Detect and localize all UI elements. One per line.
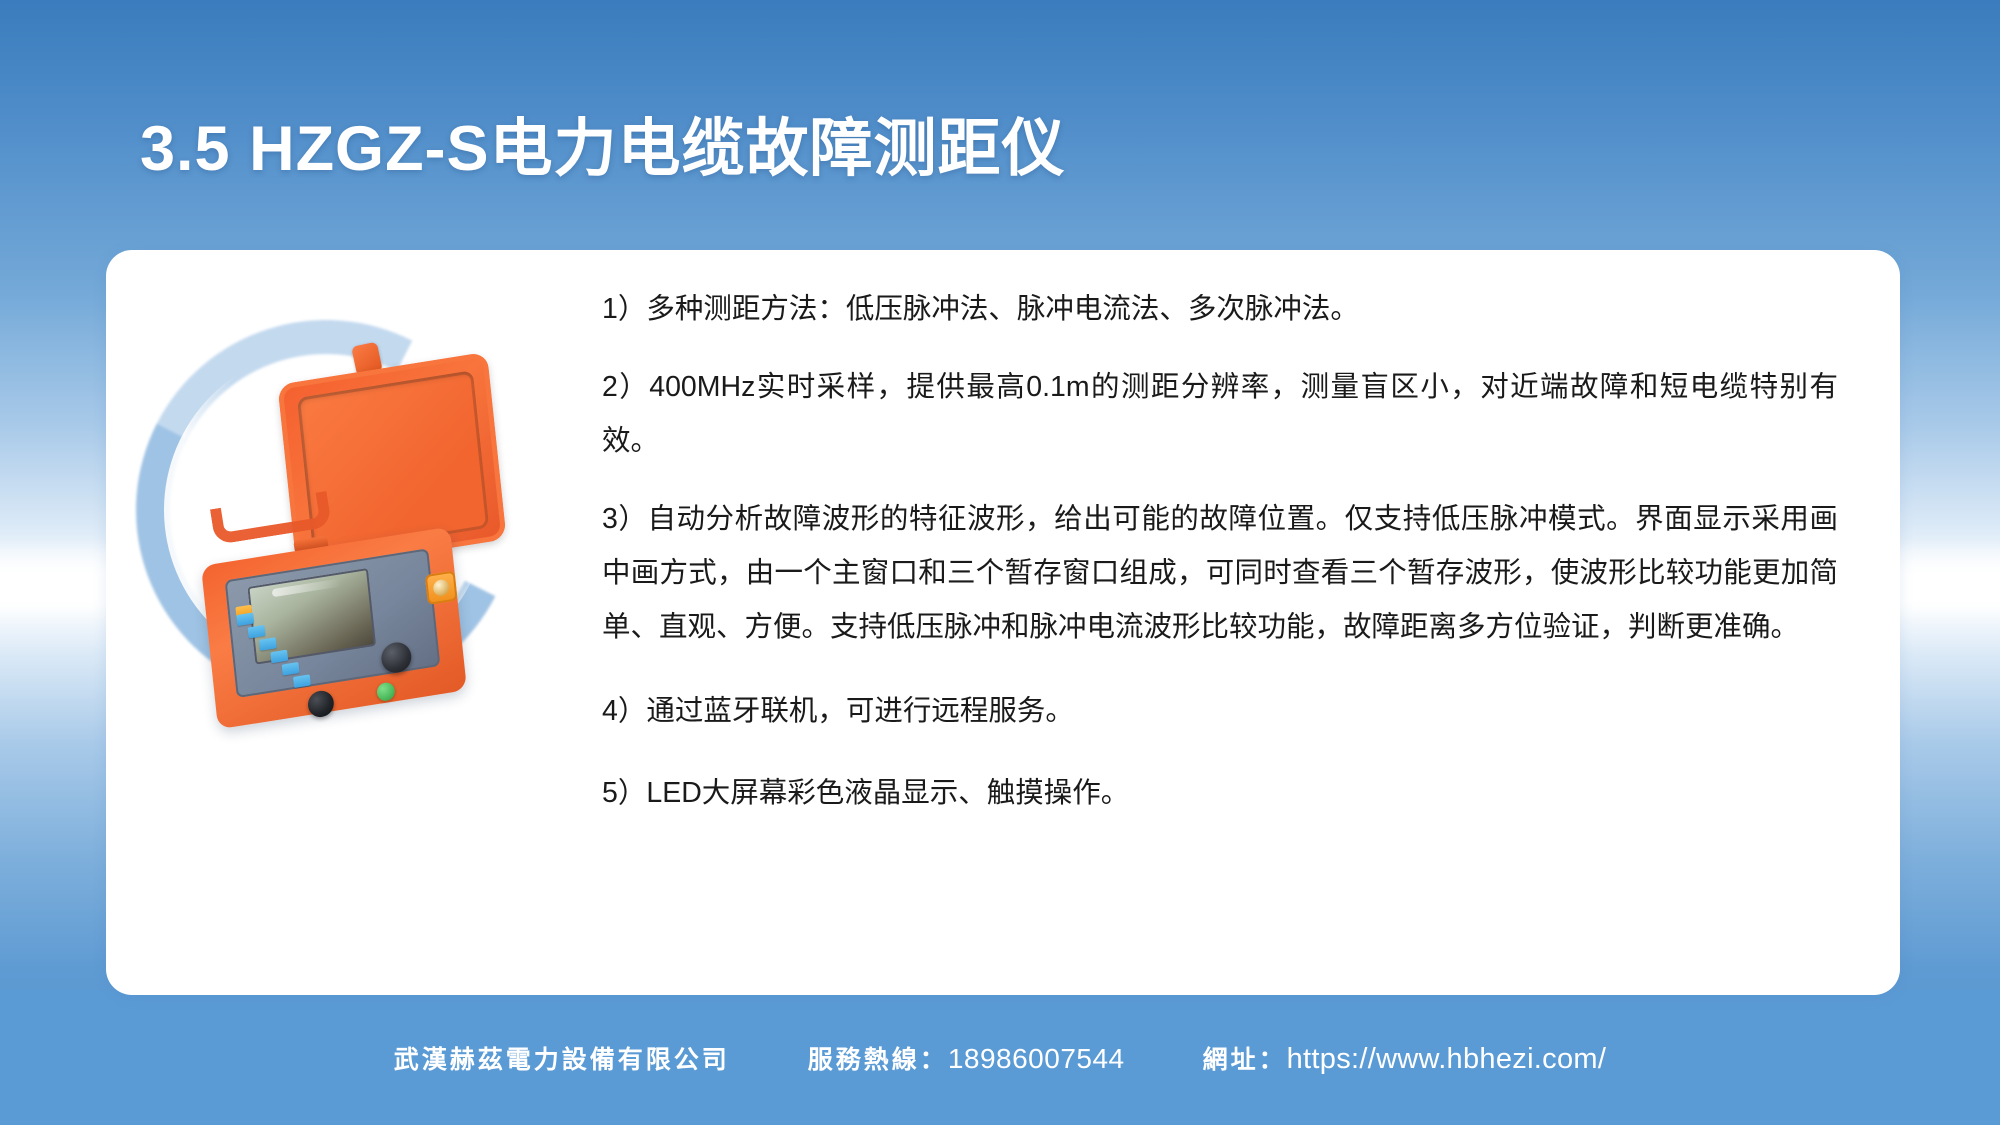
case-lid-inner xyxy=(297,370,489,555)
panel-key-icon xyxy=(293,674,311,688)
page-title: 3.5 HZGZ-S电力电缆故障测距仪 xyxy=(140,98,1066,189)
panel-key-icon xyxy=(270,650,288,664)
footer-hotline-number: 18986007544 xyxy=(948,1043,1125,1075)
list-item: 3）自动分析故障波形的特征波形，给出可能的故障位置。仅支持低压脉冲模式。界面显示… xyxy=(602,492,1838,654)
list-item-index: 1） xyxy=(602,293,646,325)
case-base xyxy=(201,527,467,730)
list-item-text: 400MHz实时采样，提供最高0.1m的测距分辨率，测量盲区小，对近端故障和短电… xyxy=(602,371,1838,457)
screen-glare-icon xyxy=(272,578,342,597)
product-image-pane xyxy=(106,250,576,995)
list-item-text: 多种测距方法：低压脉冲法、脉冲电流法、多次脉冲法。 xyxy=(646,293,1359,325)
footer-hotline: 服務熱線： 18986007544 xyxy=(808,1040,1125,1076)
product-stage xyxy=(116,290,586,910)
list-item-text: LED大屏幕彩色液晶显示、触摸操作。 xyxy=(646,777,1129,809)
footer-company: 武漢赫茲電力設備有限公司 xyxy=(394,1040,730,1076)
list-item-text: 自动分析故障波形的特征波形，给出可能的故障位置。仅支持低压脉冲模式。界面显示采用… xyxy=(602,503,1838,643)
power-button-icon xyxy=(376,681,396,702)
footer-website: 網址： https://www.hbhezi.com/ xyxy=(1203,1040,1607,1076)
list-item: 2）400MHz实时采样，提供最高0.1m的测距分辨率，测量盲区小，对近端故障和… xyxy=(602,360,1838,468)
list-item-index: 3） xyxy=(602,503,647,535)
lcd-screen xyxy=(247,568,376,665)
instrument-panel xyxy=(225,548,441,698)
list-item: 1）多种测距方法：低压脉冲法、脉冲电流法、多次脉冲法。 xyxy=(602,282,1838,336)
list-item: 5）LED大屏幕彩色液晶显示、触摸操作。 xyxy=(602,766,1838,820)
rotary-knob-icon xyxy=(380,640,413,675)
list-item: 4）通过蓝牙联机，可进行远程服务。 xyxy=(602,684,1838,738)
cable-socket-icon xyxy=(307,689,335,719)
footer: 武漢赫茲電力設備有限公司 服務熱線： 18986007544 網址： https… xyxy=(0,990,2000,1125)
footer-company-name: 武漢赫茲電力設備有限公司 xyxy=(394,1040,730,1076)
list-item-text: 通过蓝牙联机，可进行远程服务。 xyxy=(646,695,1074,727)
footer-website-url[interactable]: https://www.hbhezi.com/ xyxy=(1287,1043,1607,1076)
feature-list: 1）多种测距方法：低压脉冲法、脉冲电流法、多次脉冲法。 2）400MHz实时采样… xyxy=(576,250,1900,995)
list-item-index: 2） xyxy=(602,371,649,403)
product-device-illustration xyxy=(174,350,504,770)
panel-key-icon xyxy=(282,662,300,676)
footer-hotline-label: 服務熱線： xyxy=(808,1040,948,1076)
footer-website-label: 網址： xyxy=(1203,1040,1287,1076)
list-item-index: 4） xyxy=(602,695,646,727)
content-card: 1）多种测距方法：低压脉冲法、脉冲电流法、多次脉冲法。 2）400MHz实时采样… xyxy=(106,250,1900,995)
list-item-index: 5） xyxy=(602,777,646,809)
